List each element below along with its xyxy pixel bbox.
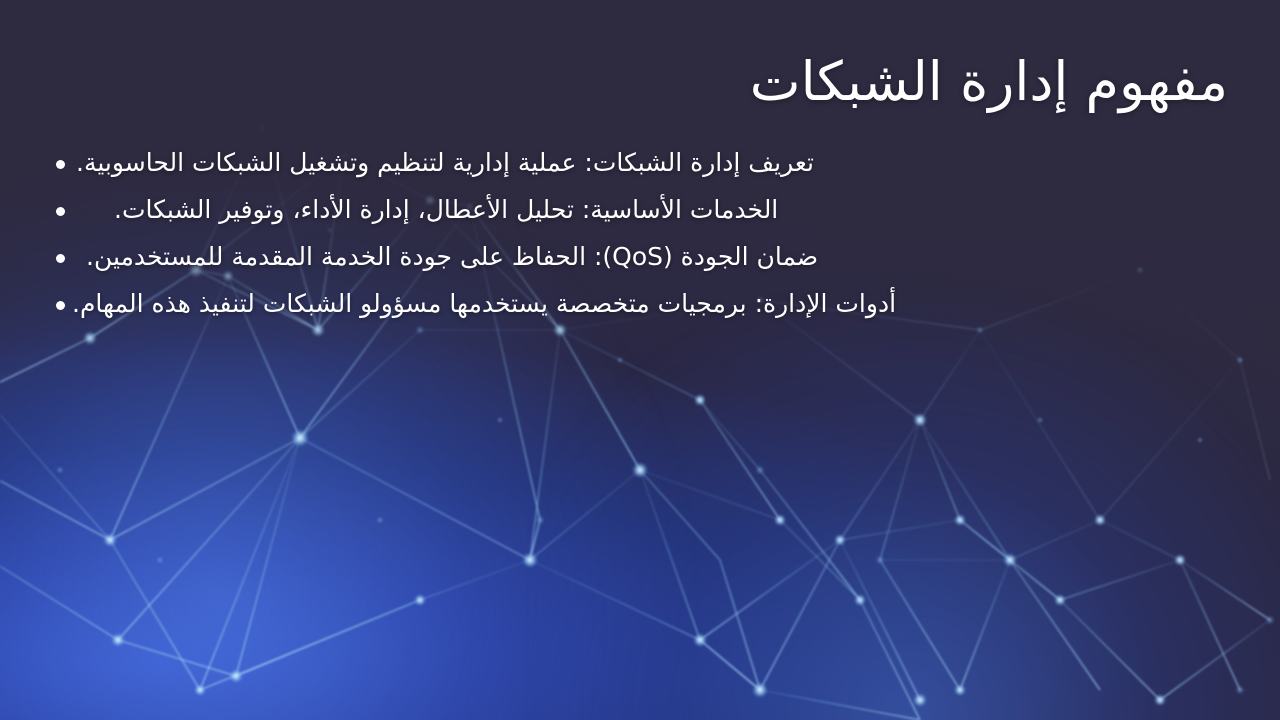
bullet-text: تعريف إدارة الشبكات: عملية إدارية لتنظيم…	[76, 144, 814, 175]
bullet-dot-icon	[56, 207, 65, 216]
bullet-text: أدوات الإدارة: برمجيات متخصصة يستخدمها م…	[72, 285, 896, 316]
slide-title-text: مفهوم إدارة الشبكات	[750, 52, 1228, 112]
bullet-dot-icon	[56, 160, 65, 169]
bullet-text: الخدمات الأساسية: تحليل الأعطال، إدارة ا…	[114, 191, 778, 222]
bullet-list: تعريف إدارة الشبكات: عملية إدارية لتنظيم…	[46, 144, 1236, 332]
list-item: أدوات الإدارة: برمجيات متخصصة يستخدمها م…	[46, 285, 1236, 332]
list-item: تعريف إدارة الشبكات: عملية إدارية لتنظيم…	[46, 144, 1236, 191]
list-item: الخدمات الأساسية: تحليل الأعطال، إدارة ا…	[46, 191, 1236, 238]
bullet-dot-icon	[56, 254, 65, 263]
bullet-text: ضمان الجودة (QoS): الحفاظ على جودة الخدم…	[86, 238, 818, 269]
slide-title: مفهوم إدارة الشبكات	[52, 52, 1228, 112]
list-item: ضمان الجودة (QoS): الحفاظ على جودة الخدم…	[46, 238, 1236, 285]
presentation-slide: مفهوم إدارة الشبكات تعريف إدارة الشبكات:…	[0, 0, 1280, 720]
bullet-dot-icon	[56, 301, 65, 310]
